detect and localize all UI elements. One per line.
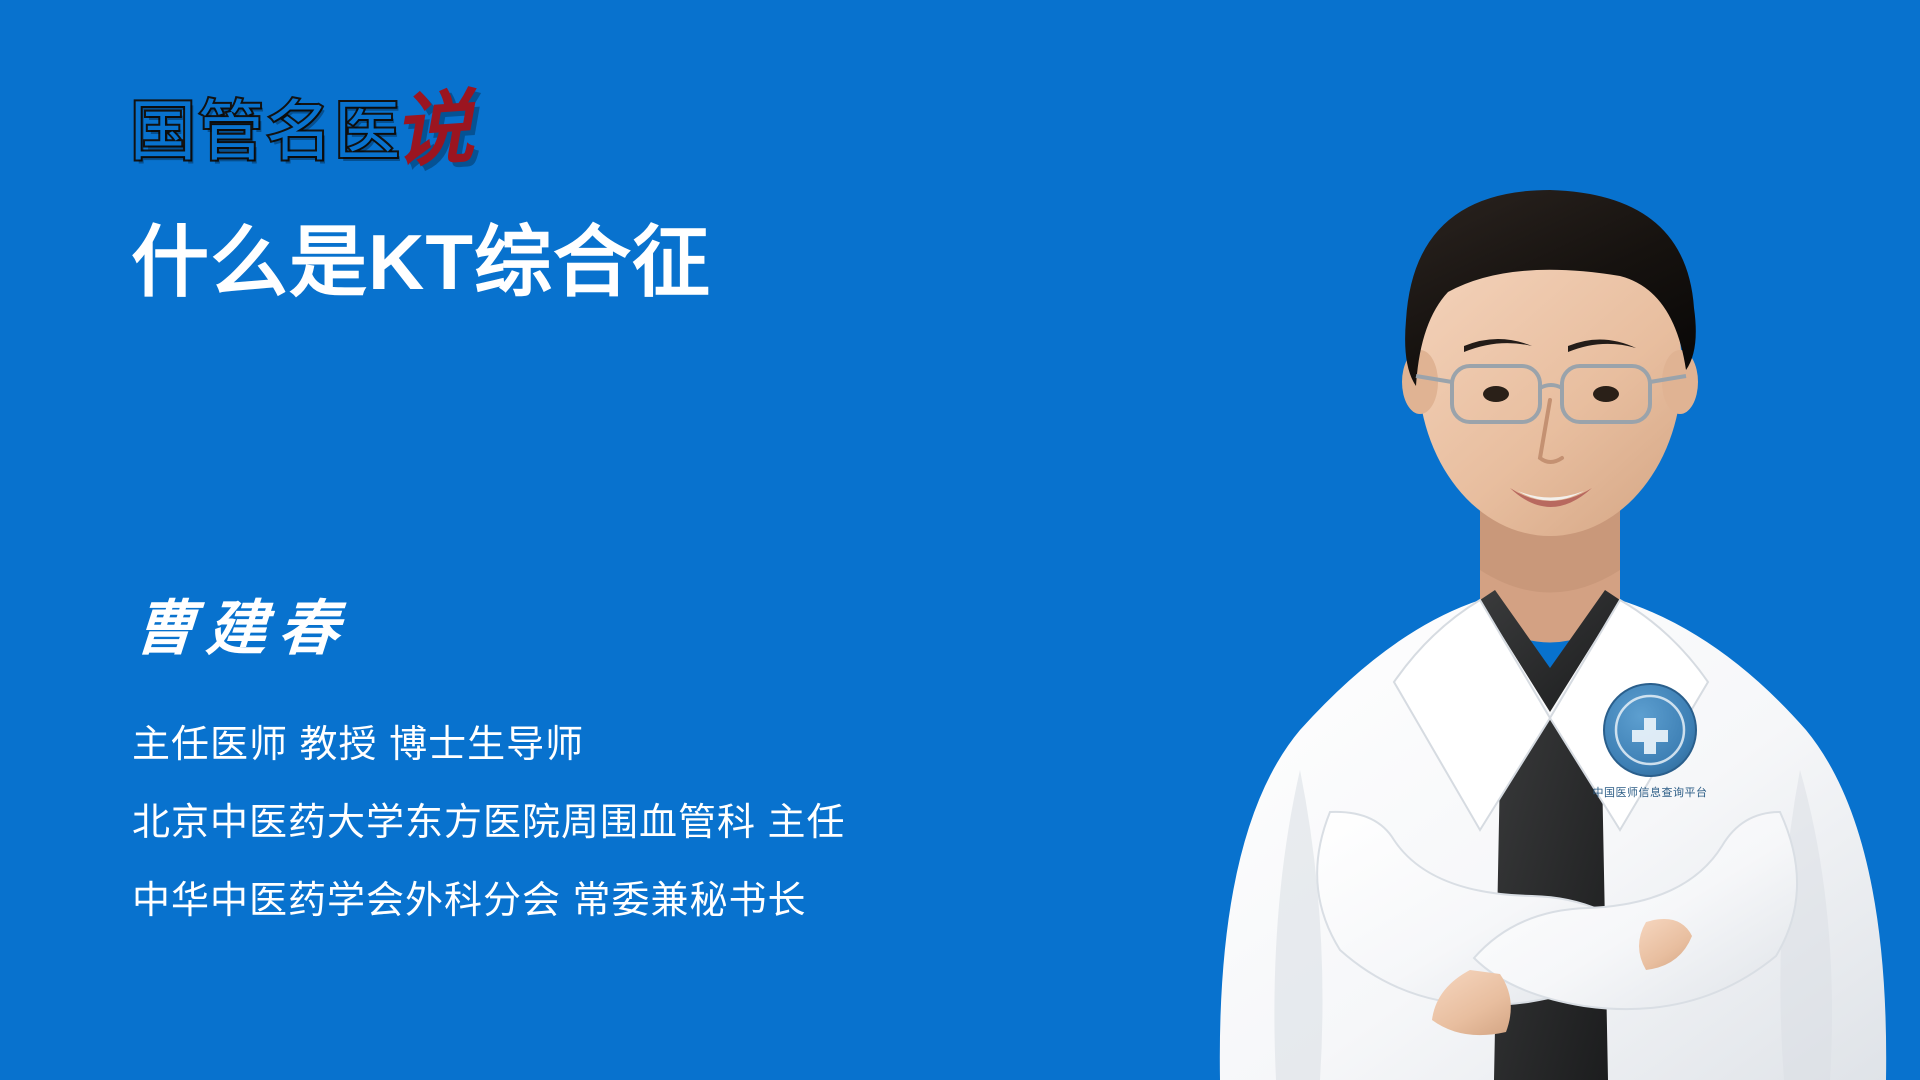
credential-line-1: 主任医师 教授 博士生导师 xyxy=(132,726,846,766)
coat-fold-right xyxy=(1780,770,1832,1080)
doctor-credentials: 主任医师 教授 博士生导师 北京中医药大学东方医院周围血管科 主任 中华中医药学… xyxy=(132,726,846,922)
face xyxy=(1418,204,1682,536)
hand-left xyxy=(1432,970,1511,1035)
eyeglasses-icon xyxy=(1416,366,1686,422)
brand-logo-main-text: 国管名医 xyxy=(130,98,402,164)
brand-logo: 国管名医 说 xyxy=(130,92,476,164)
eyebrow-right xyxy=(1568,339,1636,352)
nose xyxy=(1540,400,1562,462)
eyebrow-left xyxy=(1464,339,1532,352)
arm-left xyxy=(1317,812,1650,1005)
shirt-collar xyxy=(1480,590,1620,712)
hair xyxy=(1405,190,1696,386)
lab-coat xyxy=(1220,600,1886,1080)
coat-badge: 中国医师信息查询平台 xyxy=(1593,684,1708,799)
hand-right xyxy=(1639,919,1692,970)
shirt-placket xyxy=(1494,666,1608,1080)
badge-cross-icon xyxy=(1632,718,1668,754)
coat-badge-text: 中国医师信息查询平台 xyxy=(1593,785,1708,799)
video-cover-slide: 国管名医 说 什么是KT综合征 曹建春 主任医师 教授 博士生导师 北京中医药大… xyxy=(0,0,1920,1080)
coat-fold-left xyxy=(1274,770,1322,1080)
eye-left xyxy=(1483,386,1509,402)
ear-right xyxy=(1662,350,1698,414)
eye-right xyxy=(1593,386,1619,402)
coat-lapel-right xyxy=(1550,600,1708,830)
ear-left xyxy=(1402,350,1438,414)
credential-line-3: 中华中医药学会外科分会 常委兼秘书长 xyxy=(132,882,846,922)
credential-line-2: 北京中医药大学东方医院周围血管科 主任 xyxy=(132,804,846,844)
arm-right xyxy=(1474,812,1797,1009)
brand-logo-accent-text: 说 xyxy=(390,87,475,172)
doctor-portrait-photo: 中国医师信息查询平台 xyxy=(1180,70,1920,1080)
neck xyxy=(1480,500,1620,643)
page-title: 什么是KT综合征 xyxy=(131,219,711,306)
mouth xyxy=(1510,488,1592,507)
neck-shadow xyxy=(1480,500,1620,593)
coat-lapel-left xyxy=(1394,600,1550,830)
doctor-portrait-illustration: 中国医师信息查询平台 xyxy=(1180,70,1920,1080)
teeth xyxy=(1518,491,1584,501)
doctor-name: 曹建春 xyxy=(132,580,354,667)
